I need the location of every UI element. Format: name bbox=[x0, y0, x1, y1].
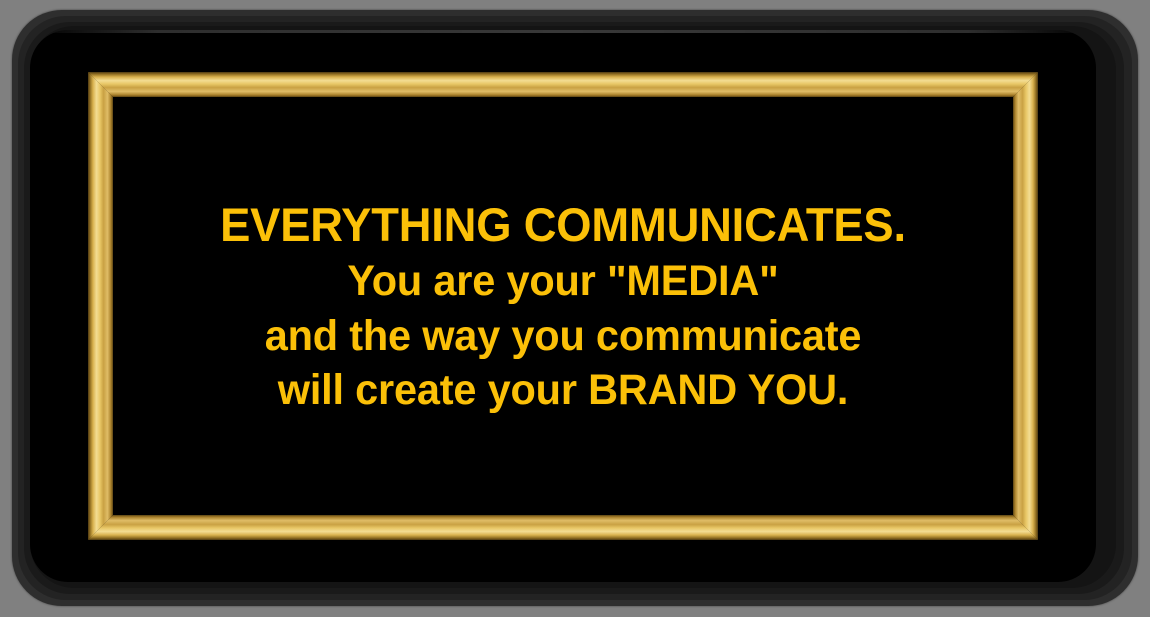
gold-frame-right-bar bbox=[1013, 72, 1038, 540]
quote-line-4: will create your BRAND YOU. bbox=[129, 363, 998, 417]
quote-text-block: EVERYTHING COMMUNICATES. You are your "M… bbox=[113, 195, 1013, 417]
frame-content-area: EVERYTHING COMMUNICATES. You are your "M… bbox=[113, 97, 1013, 515]
quote-line-2: You are your "MEDIA" bbox=[129, 254, 998, 308]
gold-frame-bottom-bar bbox=[88, 515, 1038, 540]
quote-line-1: EVERYTHING COMMUNICATES. bbox=[129, 195, 998, 254]
slide-stage: EVERYTHING COMMUNICATES. You are your "M… bbox=[0, 0, 1150, 617]
gold-frame-top-bar bbox=[88, 72, 1038, 97]
slide-card: EVERYTHING COMMUNICATES. You are your "M… bbox=[30, 30, 1096, 582]
gold-picture-frame: EVERYTHING COMMUNICATES. You are your "M… bbox=[88, 72, 1038, 540]
quote-line-3: and the way you communicate bbox=[129, 309, 998, 363]
gold-frame-left-bar bbox=[88, 72, 113, 540]
